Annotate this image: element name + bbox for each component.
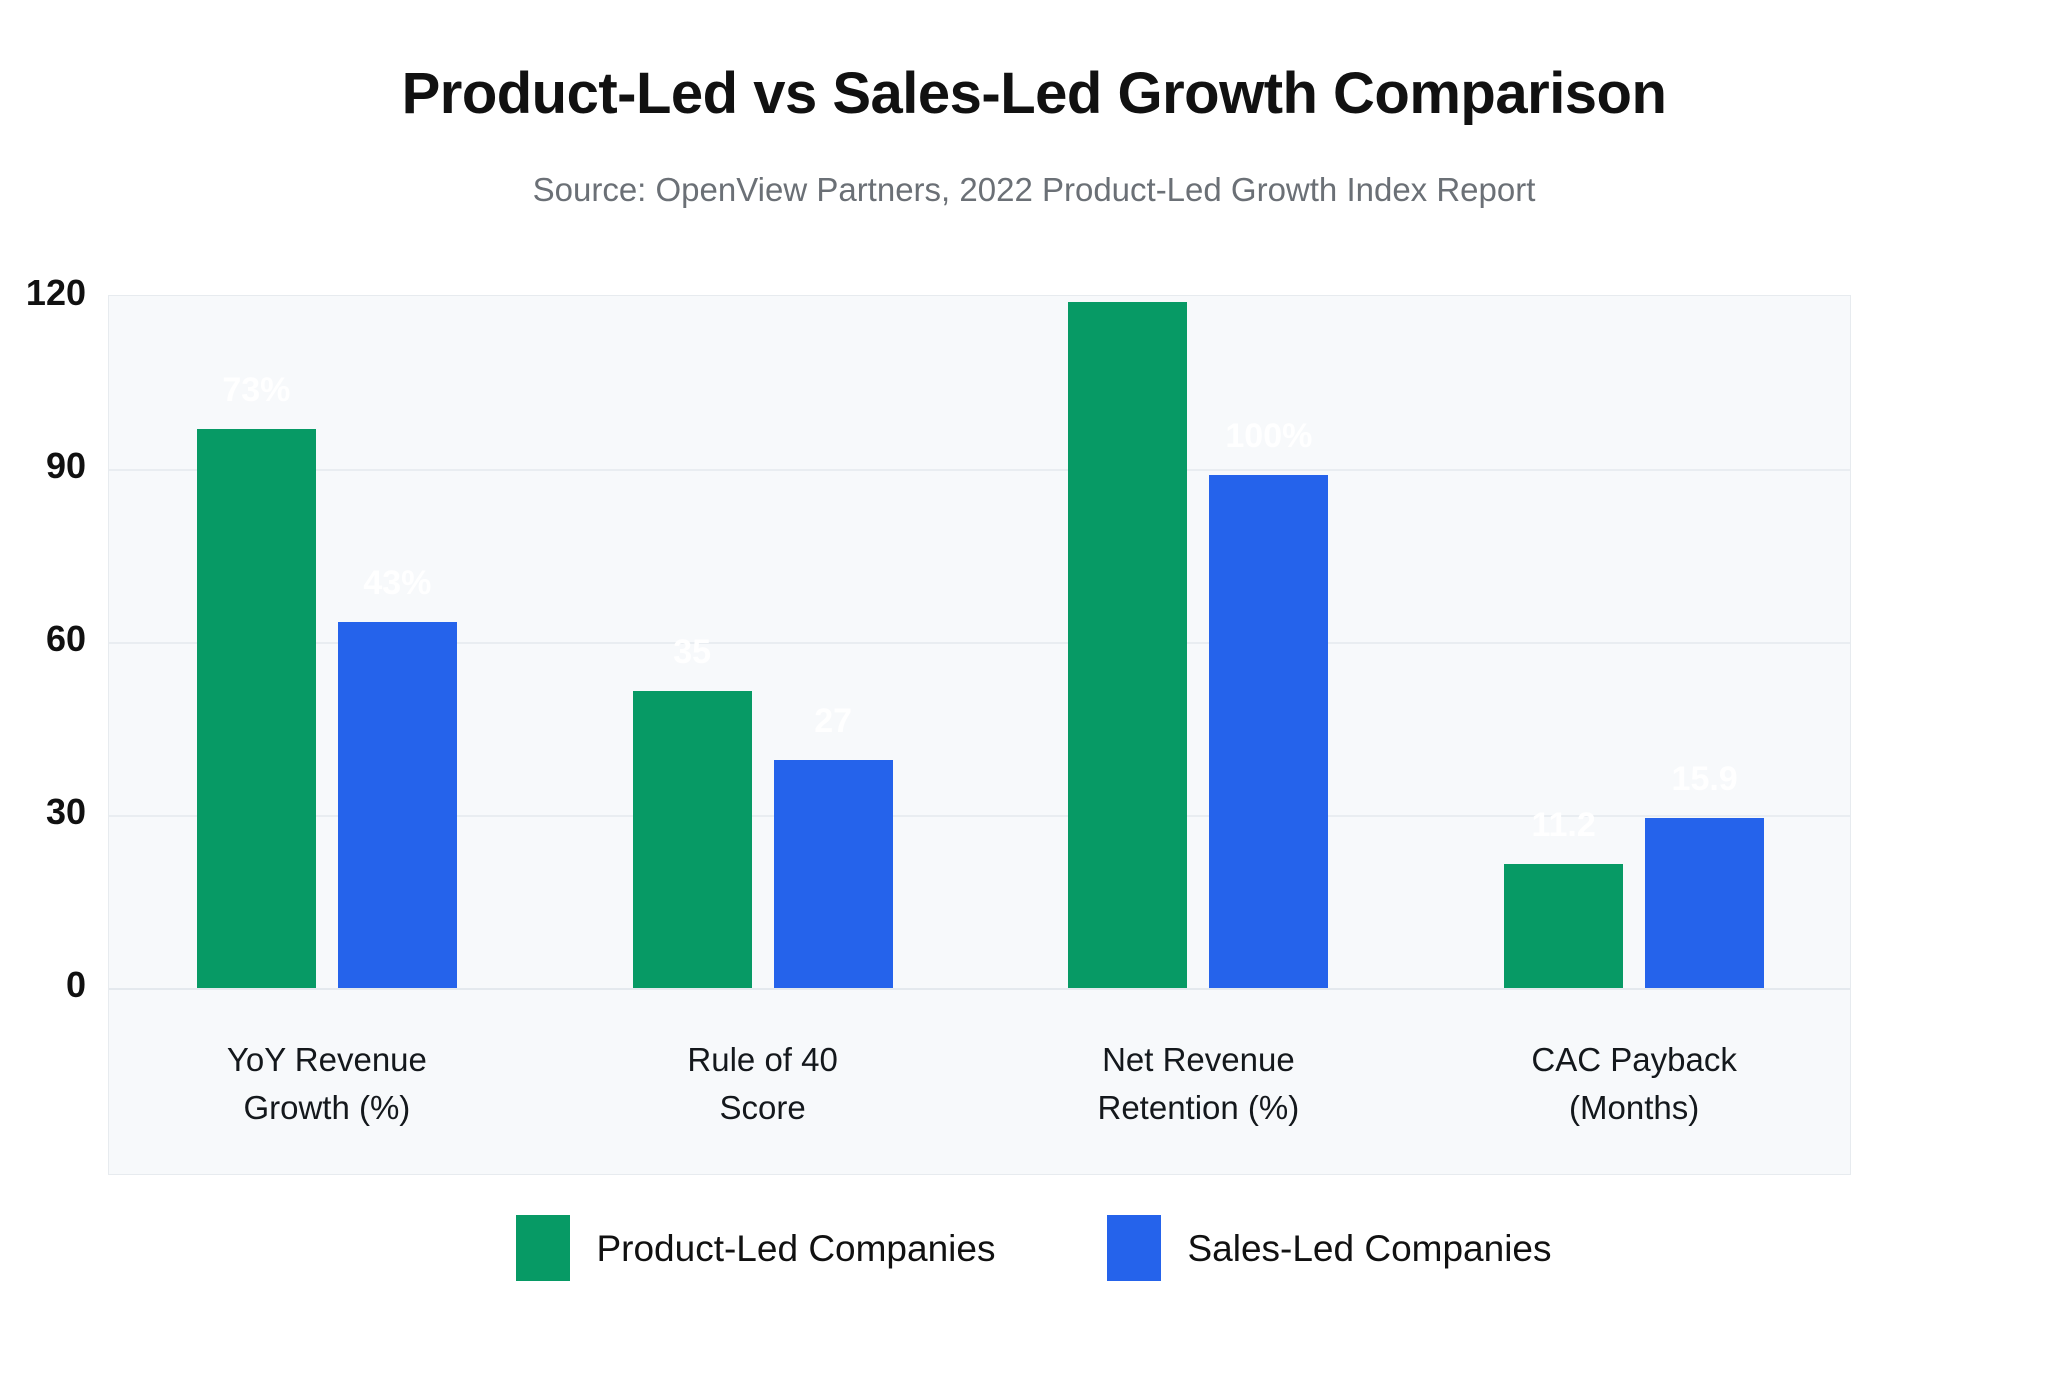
plot-data-region: 73%43%3527119%100%11.215.9 [109,296,1850,988]
chart-subtitle: Source: OpenView Partners, 2022 Product-… [0,172,2068,208]
bar-sales-led-1[interactable] [774,760,893,988]
legend-swatch-icon [1107,1215,1161,1281]
chart-legend: Product-Led CompaniesSales-Led Companies [0,1215,2068,1281]
legend-swatch-icon [516,1215,570,1281]
legend-item-sales-led[interactable]: Sales-Led Companies [1107,1215,1551,1281]
y-axis-tick-60: 60 [0,621,86,657]
x-axis-label-0: YoY RevenueGrowth (%) [109,1036,545,1132]
bar-product-led-2[interactable] [1068,302,1187,988]
x-axis-category-labels: YoY RevenueGrowth (%)Rule of 40ScoreNet … [109,988,1850,1176]
bar-sales-led-2[interactable] [1209,475,1328,988]
bar-value-label: 15.9 [1585,762,1824,796]
x-axis-label-line: Rule of 40 [545,1036,981,1084]
plot-area: 73%43%3527119%100%11.215.9 YoY RevenueGr… [108,295,1851,1175]
chart-title: Product-Led vs Sales-Led Growth Comparis… [0,62,2068,126]
x-axis-label-line: CAC Payback [1416,1036,1852,1084]
x-axis-label-3: CAC Payback(Months) [1416,1036,1852,1132]
legend-label: Product-Led Companies [596,1230,995,1267]
bar-product-led-1[interactable] [633,691,752,988]
x-axis-label-1: Rule of 40Score [545,1036,981,1132]
y-axis-tick-30: 30 [0,794,86,830]
x-axis-label-line: (Months) [1416,1084,1852,1132]
y-axis-tick-90: 90 [0,448,86,484]
x-axis-label-line: YoY Revenue [109,1036,545,1084]
bar-value-label: 35 [573,635,812,669]
y-axis-tick-0: 0 [0,967,86,1003]
bar-value-label: 73% [137,373,376,407]
y-axis-tick-120: 120 [0,275,86,311]
x-axis-label-line: Retention (%) [981,1084,1417,1132]
x-axis-label-line: Score [545,1084,981,1132]
legend-item-product-led[interactable]: Product-Led Companies [516,1215,995,1281]
bar-sales-led-0[interactable] [338,622,457,988]
bar-value-label: 119% [1008,246,1247,280]
chart-container: Product-Led vs Sales-Led Growth Comparis… [0,0,2068,1392]
bars-layer: 73%43%3527119%100%11.215.9 [109,296,1850,988]
bar-product-led-0[interactable] [197,429,316,988]
bar-product-led-3[interactable] [1504,864,1623,988]
legend-label: Sales-Led Companies [1187,1230,1551,1267]
x-axis-label-line: Net Revenue [981,1036,1417,1084]
bar-sales-led-3[interactable] [1645,818,1764,988]
x-axis-label-line: Growth (%) [109,1084,545,1132]
x-axis-label-2: Net RevenueRetention (%) [981,1036,1417,1132]
